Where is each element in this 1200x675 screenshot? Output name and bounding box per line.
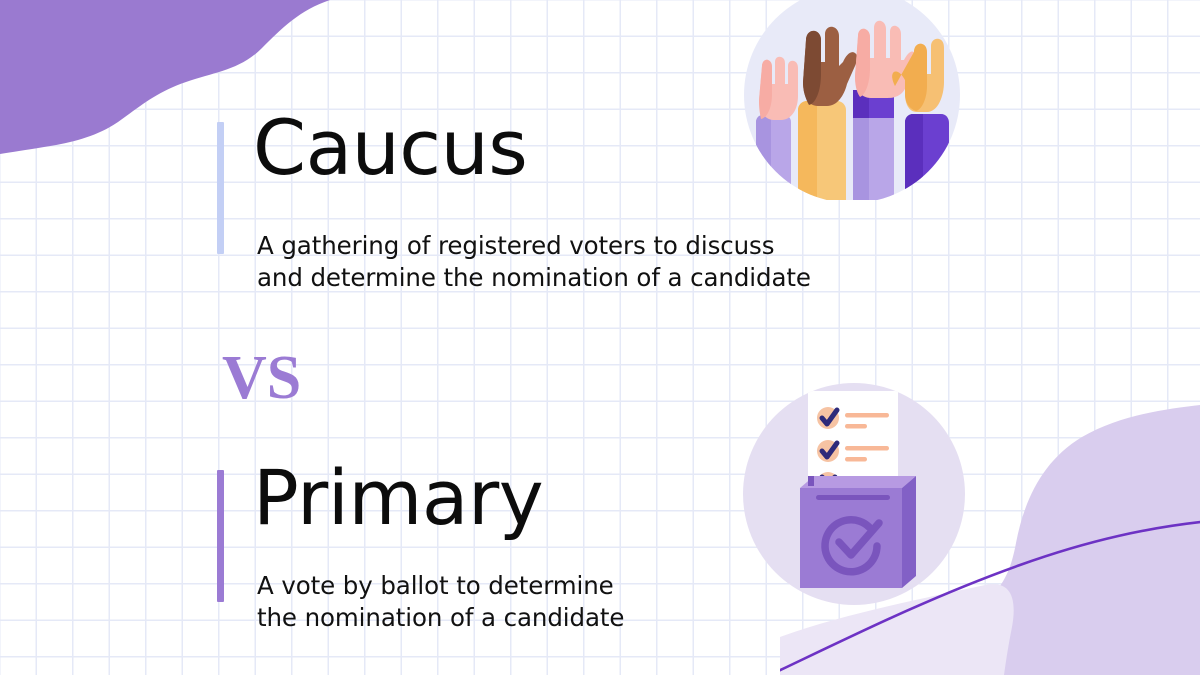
accent-bar-caucus (217, 122, 224, 254)
ballot-line (845, 424, 867, 429)
primary-description: A vote by ballot to determine the nomina… (257, 570, 624, 635)
primary-block: Primary (253, 460, 543, 536)
caucus-title: Caucus (253, 110, 527, 186)
versus-label: VS (222, 347, 301, 409)
raised-hands-illustration (737, 0, 967, 200)
caucus-description-block: A gathering of registered voters to disc… (257, 230, 811, 295)
slide-canvas: Caucus A gathering of registered voters … (0, 0, 1200, 675)
primary-description-block: A vote by ballot to determine the nomina… (257, 570, 624, 635)
ballot-line (845, 446, 889, 451)
primary-title: Primary (253, 460, 543, 536)
accent-bar-primary (217, 470, 224, 602)
ballot-line (845, 413, 889, 418)
caucus-description: A gathering of registered voters to disc… (257, 230, 811, 295)
caucus-block: Caucus (253, 110, 527, 186)
ballot-line (845, 457, 867, 462)
ballot-box-illustration (738, 383, 970, 605)
ballot-slot (816, 495, 890, 500)
